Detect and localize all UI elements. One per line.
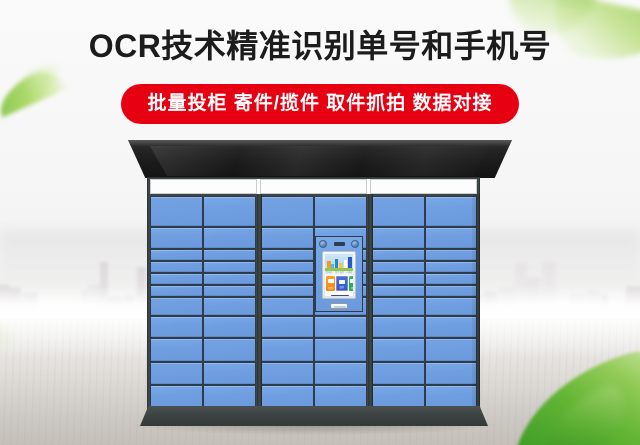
cabinet-post bbox=[368, 194, 373, 408]
parcel-send-icon bbox=[328, 279, 334, 283]
ir-slot-icon bbox=[334, 242, 345, 246]
locker-door[interactable] bbox=[314, 338, 367, 362]
screen-button-pickup-label: 取件 bbox=[337, 286, 346, 289]
screen-footer-bar bbox=[325, 292, 353, 296]
feature-badge: 批量投柜 寄件/揽件 取件抓拍 数据对接 bbox=[121, 84, 518, 124]
locker-door[interactable] bbox=[150, 385, 203, 408]
feature-badge-wrap: 批量投柜 寄件/揽件 取件抓拍 数据对接 bbox=[0, 84, 640, 124]
cabinet-header-band bbox=[150, 179, 477, 194]
locker-door[interactable] bbox=[261, 297, 314, 316]
locker-door[interactable] bbox=[203, 297, 256, 316]
locker-door[interactable] bbox=[203, 249, 256, 261]
locker-door[interactable] bbox=[372, 273, 425, 285]
locker-door[interactable] bbox=[203, 196, 256, 227]
header-band-panel bbox=[150, 179, 257, 194]
locker-door[interactable] bbox=[150, 316, 203, 338]
locker-door[interactable] bbox=[203, 338, 256, 362]
locker-door[interactable] bbox=[425, 385, 478, 408]
locker-door[interactable] bbox=[203, 285, 256, 297]
parcel-pickup-icon bbox=[339, 280, 345, 284]
screen-button-send-label: 寄件 bbox=[326, 287, 335, 290]
locker-door[interactable] bbox=[314, 196, 367, 227]
screen-button-query-label: 查询 bbox=[349, 287, 353, 290]
parcel-query-icon bbox=[350, 279, 353, 283]
locker-door[interactable] bbox=[425, 273, 478, 285]
locker-door[interactable] bbox=[261, 227, 314, 249]
cabinet-post bbox=[257, 194, 262, 408]
locker-door[interactable] bbox=[150, 261, 203, 273]
locker-door[interactable] bbox=[150, 249, 203, 261]
locker-door[interactable] bbox=[372, 285, 425, 297]
locker-door[interactable] bbox=[314, 362, 367, 385]
kiosk-screen-bezel[interactable]: 智能柜 · 寄件取件 一键操作 寄件 取件 查询 bbox=[322, 251, 356, 299]
locker-door[interactable] bbox=[203, 273, 256, 285]
locker-door[interactable] bbox=[425, 316, 478, 338]
locker-door[interactable] bbox=[261, 261, 314, 273]
camera-left-icon bbox=[319, 240, 327, 248]
cabinet-roof-edge bbox=[128, 140, 512, 146]
locker-door[interactable] bbox=[372, 316, 425, 338]
header-band-panel bbox=[260, 179, 367, 194]
locker-door[interactable] bbox=[261, 249, 314, 261]
locker-door[interactable] bbox=[150, 285, 203, 297]
locker-door[interactable] bbox=[372, 249, 425, 261]
locker-door[interactable] bbox=[425, 338, 478, 362]
locker-door[interactable] bbox=[261, 362, 314, 385]
locker-door[interactable] bbox=[372, 261, 425, 273]
locker-door[interactable] bbox=[203, 362, 256, 385]
locker-door[interactable] bbox=[203, 316, 256, 338]
screen-illustration bbox=[325, 254, 353, 271]
locker-door[interactable] bbox=[261, 273, 314, 285]
locker-door[interactable] bbox=[372, 227, 425, 249]
locker-door[interactable] bbox=[203, 261, 256, 273]
header-band-panel bbox=[370, 179, 477, 194]
locker-door[interactable] bbox=[203, 385, 256, 408]
locker-door[interactable] bbox=[261, 196, 314, 227]
camera-right-icon bbox=[351, 240, 359, 248]
locker-door[interactable] bbox=[150, 362, 203, 385]
locker-door[interactable] bbox=[425, 249, 478, 261]
kiosk-sensor-bar bbox=[319, 240, 359, 248]
locker-door[interactable] bbox=[150, 273, 203, 285]
banner-headline: OCR技术精准识别单号和手机号 bbox=[0, 26, 640, 66]
cabinet-side-shading bbox=[472, 194, 480, 408]
locker-door[interactable] bbox=[372, 362, 425, 385]
locker-door[interactable] bbox=[203, 227, 256, 249]
locker-door[interactable] bbox=[425, 285, 478, 297]
locker-door[interactable] bbox=[261, 285, 314, 297]
locker-door[interactable] bbox=[425, 362, 478, 385]
banner-stage: 智能柜 · 寄件取件 一键操作 寄件 取件 查询 bbox=[0, 0, 640, 445]
screen-button-pickup[interactable]: 取件 bbox=[336, 276, 347, 291]
locker-door[interactable] bbox=[261, 385, 314, 408]
locker-door[interactable] bbox=[314, 316, 367, 338]
locker-door[interactable] bbox=[425, 196, 478, 227]
locker-door[interactable] bbox=[150, 196, 203, 227]
locker-door[interactable] bbox=[425, 227, 478, 249]
cabinet-ground-shadow bbox=[128, 424, 500, 435]
locker-door[interactable] bbox=[372, 297, 425, 316]
locker-door[interactable] bbox=[425, 261, 478, 273]
kiosk-scan-slot[interactable] bbox=[330, 303, 348, 309]
screen-button-query[interactable]: 查询 bbox=[349, 276, 353, 291]
locker-door[interactable] bbox=[372, 385, 425, 408]
cabinet-base-plinth bbox=[140, 406, 488, 426]
screen-button-send[interactable]: 寄件 bbox=[326, 276, 335, 291]
locker-door[interactable] bbox=[150, 297, 203, 316]
locker-door[interactable] bbox=[150, 227, 203, 249]
locker-door[interactable] bbox=[372, 338, 425, 362]
locker-door[interactable] bbox=[150, 338, 203, 362]
kiosk-screen[interactable]: 智能柜 · 寄件取件 一键操作 寄件 取件 查询 bbox=[325, 254, 353, 296]
locker-door[interactable] bbox=[314, 385, 367, 408]
screen-action-buttons[interactable]: 寄件 取件 查询 bbox=[326, 276, 353, 291]
locker-door[interactable] bbox=[372, 196, 425, 227]
locker-door[interactable] bbox=[261, 316, 314, 338]
locker-door[interactable] bbox=[425, 297, 478, 316]
cabinet-roof-highlight bbox=[150, 146, 490, 176]
express-locker-cabinet: 智能柜 · 寄件取件 一键操作 寄件 取件 查询 bbox=[0, 0, 640, 445]
locker-door[interactable] bbox=[261, 338, 314, 362]
screen-caption: 智能柜 · 寄件取件 一键操作 bbox=[325, 271, 353, 275]
